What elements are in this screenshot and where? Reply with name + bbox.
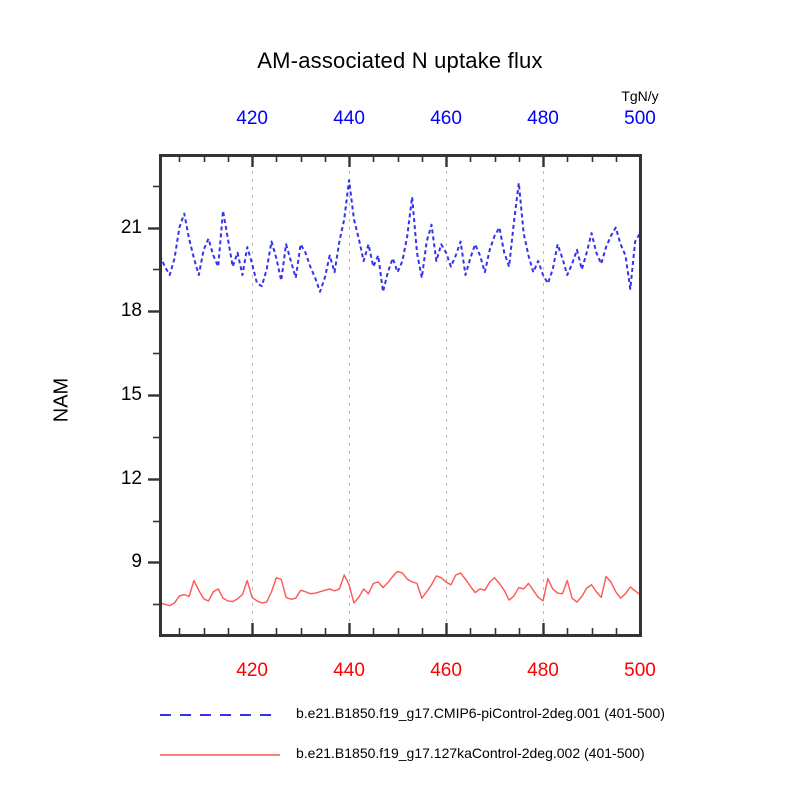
gridlines (253, 155, 544, 635)
legend-line-sample-1 (160, 752, 280, 756)
legend-item: b.e21.B1850.f19_g17.CMIP6-piControl-2deg… (0, 700, 800, 740)
legend-line-sample-0 (160, 712, 280, 716)
series-line-1 (160, 571, 640, 605)
chart-page: AM-associated N uptake flux TgN/y 420440… (0, 0, 800, 800)
legend: b.e21.B1850.f19_g17.CMIP6-piControl-2deg… (0, 700, 800, 780)
plot-frame (161, 156, 641, 636)
legend-item: b.e21.B1850.f19_g17.127kaControl-2deg.00… (0, 740, 800, 780)
series-line-0 (160, 180, 640, 292)
data-series-group (160, 180, 640, 606)
legend-label-0: b.e21.B1850.f19_g17.CMIP6-piControl-2deg… (296, 705, 665, 721)
legend-label-1: b.e21.B1850.f19_g17.127kaControl-2deg.00… (296, 745, 645, 761)
plot-area (0, 0, 800, 800)
